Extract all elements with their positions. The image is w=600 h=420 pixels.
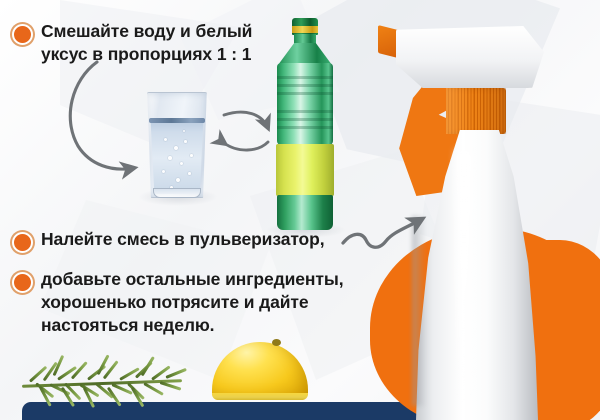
glass-of-water	[146, 92, 208, 198]
step-1-text: Смешайте воду и белый уксус в пропорциях…	[41, 20, 252, 66]
bubble	[188, 172, 191, 175]
spray-collar-ring	[446, 88, 506, 134]
orange-dot-bullet-icon	[12, 24, 33, 45]
rosemary-sprig	[10, 352, 200, 410]
orange-dot-bullet-icon	[12, 232, 33, 253]
step-item-1: Смешайте воду и белый уксус в пропорциях…	[12, 20, 312, 66]
spray-head	[396, 26, 544, 88]
orange-dot-bullet-icon	[12, 272, 33, 293]
bubble	[168, 156, 172, 160]
bubble	[176, 178, 180, 182]
step-2-text: Налейте смесь в пульверизатор,	[41, 228, 325, 251]
bottle-rib	[277, 92, 333, 95]
vinegar-bottle-label	[276, 144, 334, 196]
bottle-rib	[277, 126, 333, 129]
spray-bottle-highlight	[456, 150, 472, 400]
infographic-canvas: Смешайте воду и белый уксус в пропорциях…	[0, 0, 600, 420]
bubble	[164, 138, 167, 141]
step-item-3: добавьте остальные ингредиенты, хорошень…	[12, 268, 357, 337]
rosemary-needle	[151, 365, 171, 381]
step-3-text: добавьте остальные ингредиенты, хорошень…	[41, 268, 343, 337]
glass-base	[153, 188, 201, 198]
lemon-cut-surface	[212, 393, 308, 400]
water-surface-line	[149, 118, 205, 123]
bubble	[183, 130, 185, 132]
bubble	[184, 140, 187, 143]
lemon-stem-nub	[272, 339, 281, 346]
bubble	[162, 170, 165, 173]
bubble	[174, 146, 178, 150]
lemon-half	[212, 342, 308, 400]
bottle-rib	[277, 118, 333, 121]
rosemary-needle	[141, 356, 155, 376]
vinegar-bottle-lower-body	[277, 195, 333, 230]
water-fill	[150, 120, 204, 194]
bottle-rib	[277, 84, 333, 87]
spray-bottle-shadow-edge	[412, 216, 426, 406]
bottle-rib	[277, 76, 333, 79]
spray-bottle	[360, 0, 600, 420]
step-item-2: Налейте смесь в пульверизатор,	[12, 228, 342, 253]
bubble	[180, 162, 183, 165]
lemon-peel	[212, 342, 308, 400]
bubble	[190, 154, 193, 157]
bottle-rib	[277, 110, 333, 113]
rosemary-needle	[165, 368, 187, 379]
